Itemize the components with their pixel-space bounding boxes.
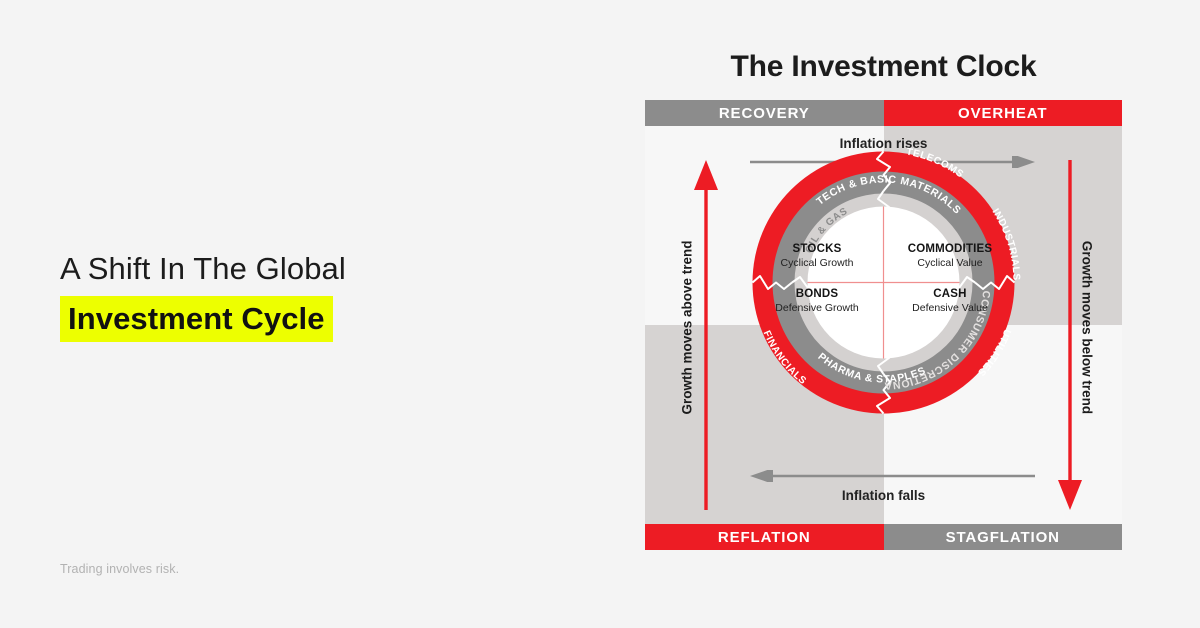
growth-below-trend-group: Growth moves below trend	[1057, 160, 1111, 510]
growth-down-arrow-icon	[1057, 160, 1083, 510]
investment-clock-wheel: TELECOMS INDUSTRIALS UTILITIES FINANCIAL…	[742, 141, 1025, 424]
chart-title: The Investment Clock	[645, 50, 1122, 84]
inflation-falls-arrow-icon	[750, 470, 1035, 482]
risk-disclaimer: Trading involves risk.	[60, 562, 179, 576]
phase-label-reflation: REFLATION	[645, 524, 884, 550]
growth-above-trend-group: Growth moves above trend	[657, 160, 711, 510]
headline-line-2-highlighted: Investment Cycle	[60, 296, 333, 342]
phase-label-recovery: RECOVERY	[645, 100, 884, 126]
headline-line-2-wrapper: Investment Cycle	[60, 296, 600, 342]
phase-bar-bottom: REFLATION STAGFLATION	[645, 524, 1122, 550]
growth-up-arrow-icon	[693, 160, 719, 510]
investment-clock-panel: RECOVERY OVERHEAT REFLATION STAGFLATION …	[645, 100, 1122, 550]
phase-bar-top: RECOVERY OVERHEAT	[645, 100, 1122, 126]
page-title: A Shift In The Global Investment Cycle	[60, 248, 600, 342]
left-hero-panel: A Shift In The Global Investment Cycle T…	[0, 0, 630, 628]
phase-label-stagflation: STAGFLATION	[884, 524, 1123, 550]
phase-label-overheat: OVERHEAT	[884, 100, 1123, 126]
headline-line-1: A Shift In The Global	[60, 248, 600, 290]
